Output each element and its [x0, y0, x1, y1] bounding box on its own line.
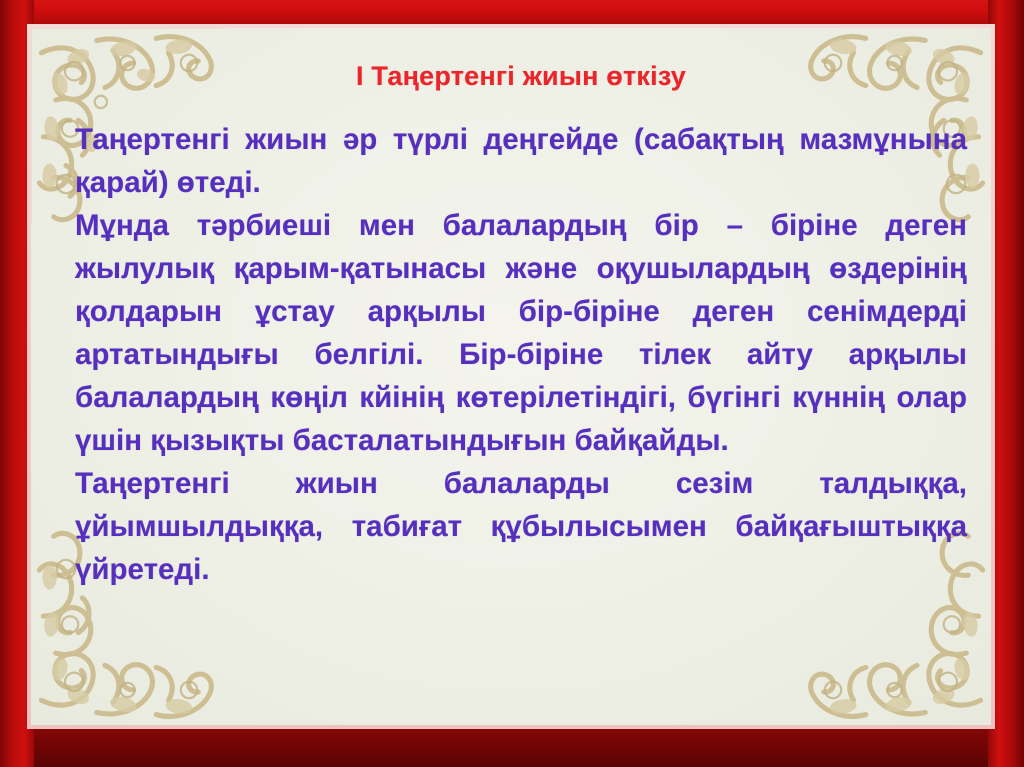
frame-border-top [0, 0, 1024, 26]
content-panel: I Таңертенгі жиын өткізу Таңертенгі жиын… [31, 28, 991, 725]
slide-title: I Таңертенгі жиын өткізу [75, 62, 967, 92]
slide-text-area: I Таңертенгі жиын өткізу Таңертенгі жиын… [75, 62, 967, 725]
slide-frame: I Таңертенгі жиын өткізу Таңертенгі жиын… [0, 0, 1024, 767]
slide-body: Таңертенгі жиын әр түрлі деңгейде (сабақ… [75, 118, 967, 591]
body-paragraph-2: Мұнда тәрбиеші мен балалардың бір – бірі… [75, 204, 967, 462]
body-paragraph-1: Таңертенгі жиын әр түрлі деңгейде (сабақ… [75, 118, 967, 204]
body-paragraph-3: Таңертенгі жиын балаларды сезім талдыққа… [75, 462, 967, 591]
inner-bevel: I Таңертенгі жиын өткізу Таңертенгі жиын… [27, 24, 995, 729]
